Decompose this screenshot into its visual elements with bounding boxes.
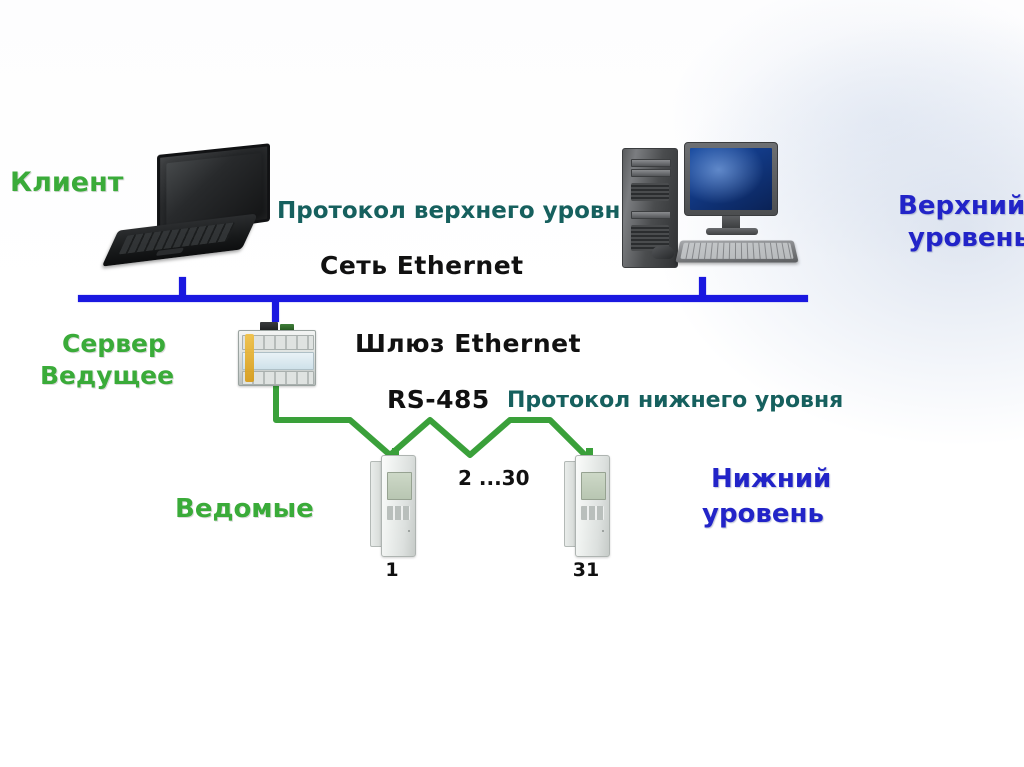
slave-device-1: 1 <box>370 455 416 580</box>
label-lower-level-line1: Нижний <box>711 465 831 494</box>
label-ethernet-gateway: Шлюз Ethernet <box>355 330 581 358</box>
slave-31-keypad <box>581 506 604 520</box>
label-lower-protocol: Протокол нижнего уровня <box>507 389 843 414</box>
label-upper-level-line1: Верхний <box>898 192 1024 221</box>
label-server-master-line1: Сервер <box>62 330 166 358</box>
slave-31-lcd-display <box>581 472 606 500</box>
ethernet-drop-gateway <box>272 300 279 322</box>
label-upper-level-line2: уровень <box>908 224 1024 253</box>
client-laptop-image <box>118 145 283 260</box>
slave-device-31: 31 <box>564 455 610 580</box>
pc-monitor-screen <box>690 148 772 210</box>
gateway-body <box>238 330 316 386</box>
label-upper-protocol: Протокол верхнего уровн <box>277 199 620 225</box>
label-slaves: Ведомые <box>175 495 314 524</box>
label-client: Клиент <box>10 168 123 198</box>
slave-31-indicator-led <box>602 530 604 532</box>
slave-1-number-label: 1 <box>370 559 414 581</box>
slave-1-lcd-display <box>387 472 412 500</box>
label-ethernet-network: Сеть Ethernet <box>320 252 524 280</box>
pc-keyboard <box>675 240 798 262</box>
label-middle-range: 2 ...30 <box>458 467 530 489</box>
pc-mouse <box>652 246 674 259</box>
pc-monitor-foot <box>706 228 758 235</box>
pc-monitor <box>684 142 778 216</box>
slave-1-keypad <box>387 506 410 520</box>
label-lower-level-line2: уровень <box>702 500 824 529</box>
ethernet-gateway-device <box>238 330 318 388</box>
slave-31-body <box>575 455 610 557</box>
pc-monitor-neck <box>722 216 740 228</box>
diagram-canvas: 1 31 Клиент Сервер Ведущее Протокол верх… <box>0 0 1024 767</box>
slave-1-indicator-led <box>408 530 410 532</box>
slave-1-body <box>381 455 416 557</box>
ethernet-drop-pc <box>699 277 706 297</box>
slave-31-number-label: 31 <box>564 559 608 581</box>
gateway-yellow-stripe <box>245 334 254 382</box>
label-rs485: RS-485 <box>387 386 490 414</box>
workstation-pc-image <box>622 142 802 272</box>
ethernet-drop-laptop <box>179 277 186 297</box>
label-server-master-line2: Ведущее <box>40 362 174 390</box>
